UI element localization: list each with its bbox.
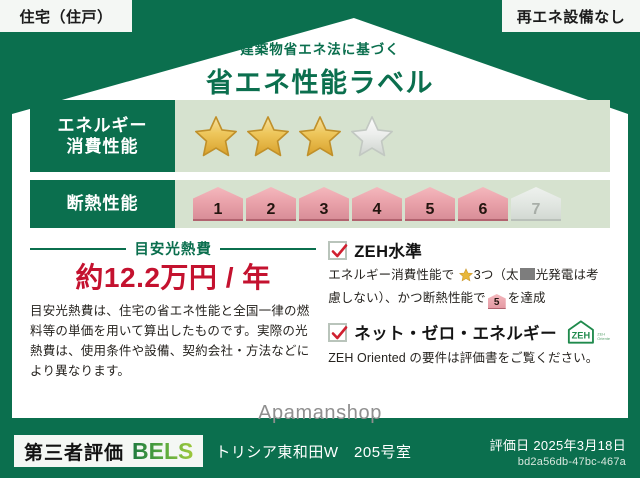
grade-number: 7 [532,202,541,218]
energy-cost-note: 目安光熱費は、住宅の省エネ性能と全国一律の燃料等の単価を用いて算出したものです。… [30,301,316,382]
star-filled-icon [193,114,239,158]
energy-performance-label: 住宅（住戸） 再エネ設備なし 建築物省エネ法に基づく 省エネ性能ラベル エネルギ… [0,0,640,478]
insulation-grade-list: 1234567 [193,187,561,221]
evaluation-id: bd2a56db-47bc-467a [490,456,626,468]
energy-cost-amount: 約12.2万円 / 年 [30,261,316,295]
inline-grade-badge: 5 [488,294,506,309]
zeh-house-logo-icon: ZEH ZEH Oriented [566,319,610,345]
zeh-body-part4: を達成 [508,291,546,305]
inline-star-icon [455,271,473,285]
label-content: エネルギー 消費性能 断熱性能 1234567 目安光熱費 約12.2万 [30,100,610,400]
insulation-performance-label-text: 断熱性能 [67,193,139,214]
bels-certification-chip: 第三者評価 BELS [14,435,203,467]
energy-performance-label-line1: エネルギー [58,115,148,136]
check-head-zeh-standard: ZEH水準 [328,238,610,262]
grade-number: 4 [373,202,382,218]
certification-checks: ZEH水準 エネルギー消費性能で 3つ（太光発電は考慮しない）、かつ断熱性能で5… [322,238,610,382]
lower-section: 目安光熱費 約12.2万円 / 年 目安光熱費は、住宅の省エネ性能と全国一律の燃… [30,238,610,382]
grade-number: 1 [214,202,223,218]
insulation-grade-7: 7 [511,187,561,221]
zeh-body-part1: エネルギー消費性能で [328,268,454,282]
check-head-net-zero-energy: ネット・ゼロ・エネルギー ZEH ZEH Oriented [328,319,610,345]
star-filled-icon [245,114,291,158]
redaction-block [520,268,535,280]
grade-number: 5 [426,202,435,218]
grade-number: 3 [320,202,329,218]
bels-logo: BELS [132,438,193,465]
badge-renewable-energy-text: 再エネ設備なし [517,6,626,27]
insulation-grade-3: 3 [299,187,349,221]
check-item-net-zero-energy: ネット・ゼロ・エネルギー ZEH ZEH Oriented ZEH Orient… [328,319,610,368]
insulation-grade-2: 2 [246,187,296,221]
check-item-zeh-standard: ZEH水準 エネルギー消費性能で 3つ（太光発電は考慮しない）、かつ断熱性能で5… [328,238,610,309]
badge-building-type: 住宅（住戸） [0,0,132,32]
insulation-grade-4: 4 [352,187,402,221]
badge-building-type-text: 住宅（住戸） [19,6,112,27]
check-body-zeh-standard: エネルギー消費性能で 3つ（太光発電は考慮しない）、かつ断熱性能で5を達成 [328,265,610,309]
insulation-grade-6: 6 [458,187,508,221]
energy-performance-row: エネルギー 消費性能 [30,100,610,172]
svg-text:ZEH: ZEH [572,330,591,340]
star-empty-icon [349,114,395,158]
evaluation-date: 評価日 2025年3月18日 [490,435,626,454]
star-rating [175,100,610,172]
checkmark-icon [328,323,347,342]
checkmark-icon [328,241,347,260]
zeh-body-part2: 3つ（太 [474,268,519,282]
grade-number: 6 [479,202,488,218]
energy-cost-heading: 目安光熱費 [30,238,316,259]
energy-performance-label-line2: 消費性能 [67,136,139,157]
insulation-performance-label: 断熱性能 [30,180,175,228]
svg-text:Oriented: Oriented [597,336,610,341]
bels-prefix-text: 第三者評価 [24,438,124,465]
insulation-performance-row: 断熱性能 1234567 [30,180,610,228]
footer-bar: 第三者評価 BELS トリシア東和田W 205号室 評価日 2025年3月18日… [0,424,640,478]
footer-meta: 評価日 2025年3月18日 bd2a56db-47bc-467a [490,435,626,468]
insulation-grade-1: 1 [193,187,243,221]
check-body-net-zero-energy: ZEH Oriented の要件は評価書をご覧ください。 [328,348,610,368]
rule-right [220,248,316,250]
energy-performance-label: エネルギー 消費性能 [30,100,175,172]
property-name: トリシア東和田W 205号室 [215,441,411,462]
grade-number: 2 [267,202,276,218]
star-filled-icon [297,114,343,158]
check-title-zeh-standard: ZEH水準 [354,238,422,262]
badge-renewable-energy: 再エネ設備なし [502,0,640,32]
insulation-grade-5: 5 [405,187,455,221]
energy-cost-heading-text: 目安光熱費 [134,238,212,259]
insulation-grade-scale: 1234567 [175,180,610,228]
energy-cost-section: 目安光熱費 約12.2万円 / 年 目安光熱費は、住宅の省エネ性能と全国一律の燃… [30,238,322,382]
rule-left [30,248,126,250]
check-title-net-zero-energy: ネット・ゼロ・エネルギー [354,320,557,344]
